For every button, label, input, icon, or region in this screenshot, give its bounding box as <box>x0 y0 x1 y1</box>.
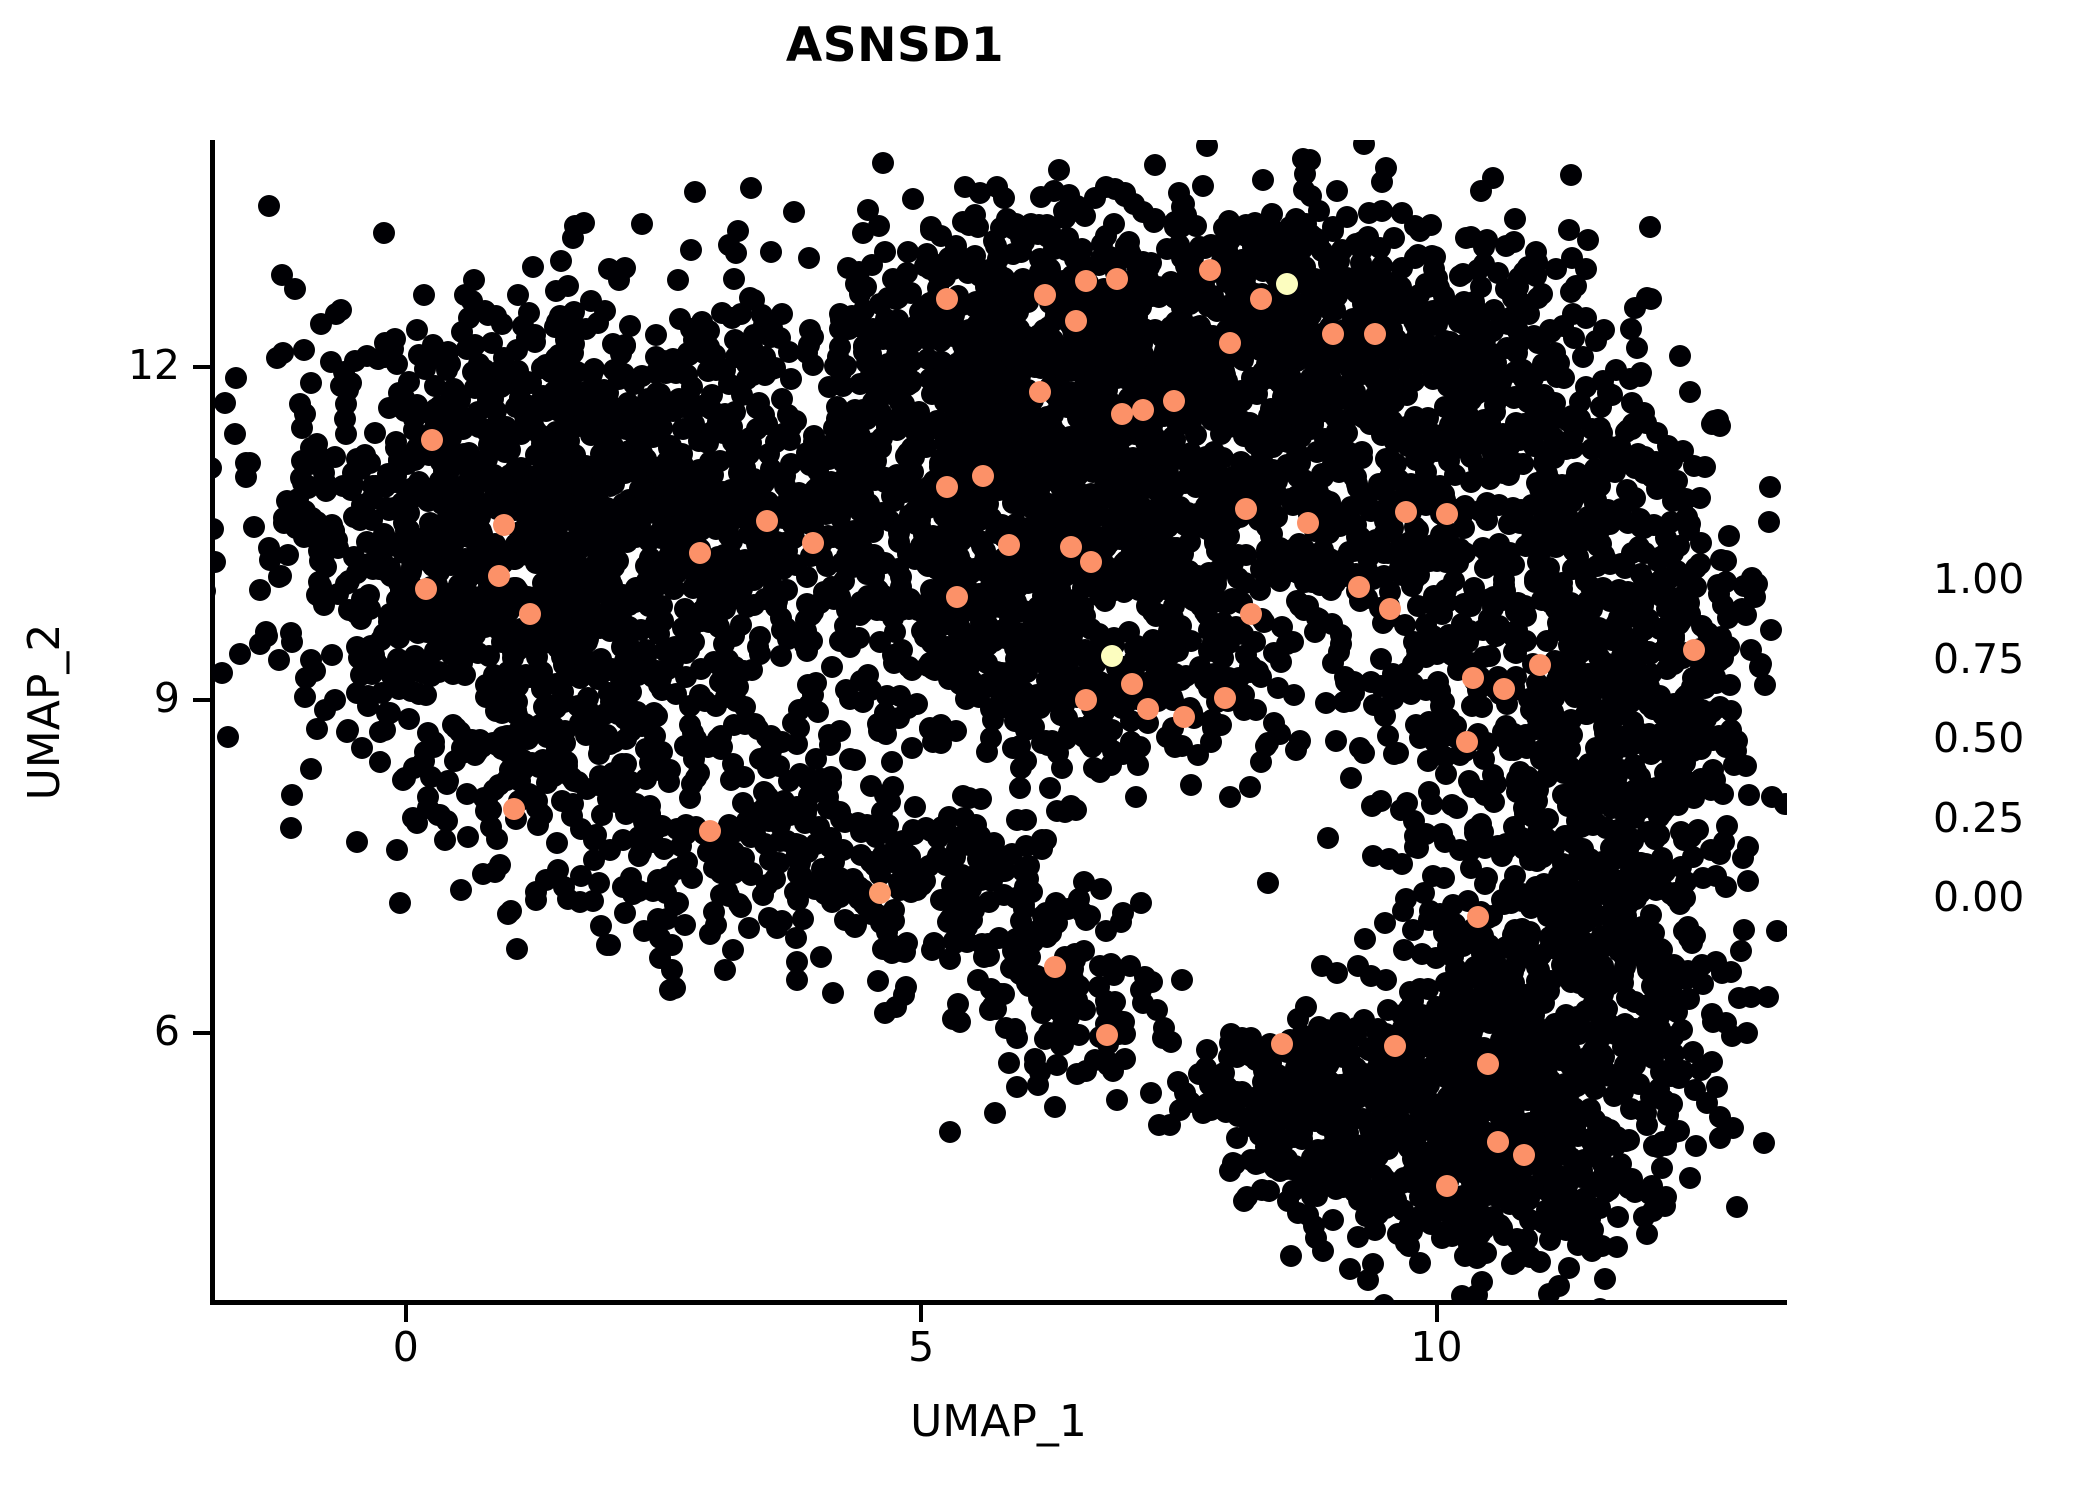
scatter-point <box>1198 619 1220 641</box>
scatter-point <box>365 475 387 497</box>
scatter-point <box>958 670 980 692</box>
scatter-point <box>860 343 882 365</box>
scatter-point <box>619 315 641 337</box>
scatter-point <box>1055 728 1077 750</box>
scatter-point <box>547 859 569 881</box>
scatter-point <box>977 634 999 656</box>
scatter-point <box>667 269 689 291</box>
scatter-point <box>1421 245 1443 267</box>
scatter-point <box>1201 591 1223 613</box>
scatter-point <box>1434 396 1456 418</box>
scatter-point <box>554 732 576 754</box>
scatter-point <box>973 946 995 968</box>
scatter-point <box>521 752 543 774</box>
scatter-point <box>913 298 935 320</box>
scatter-point <box>1391 202 1413 224</box>
scatter-point <box>614 902 636 924</box>
scatter-point <box>924 851 946 873</box>
scatter-point <box>268 649 290 671</box>
scatter-point <box>599 569 621 591</box>
scatter-point <box>831 525 853 547</box>
scatter-point <box>743 324 765 346</box>
scatter-point <box>1452 263 1474 285</box>
scatter-point <box>759 849 781 871</box>
scatter-point <box>1146 999 1168 1021</box>
scatter-point <box>210 457 222 479</box>
scatter-point <box>522 256 544 278</box>
scatter-point <box>481 381 503 403</box>
scatter-point <box>389 892 411 914</box>
scatter-point <box>314 471 336 493</box>
scatter-point <box>1009 365 1031 387</box>
scatter-point <box>417 797 439 819</box>
scatter-point <box>557 888 579 910</box>
scatter-point <box>1353 140 1375 155</box>
scatter-point <box>545 452 567 474</box>
scatter-point <box>1075 909 1097 931</box>
scatter-point <box>1531 283 1553 305</box>
scatter-point <box>938 523 960 545</box>
scatter-point <box>598 682 620 704</box>
scatter-point <box>919 544 941 566</box>
scatter-point <box>974 388 996 410</box>
scatter-point <box>1239 776 1261 798</box>
scatter-point <box>786 969 808 991</box>
scatter-point <box>284 500 306 522</box>
scatter-point <box>415 684 437 706</box>
scatter-point <box>815 874 837 896</box>
scatter-point <box>1455 227 1477 249</box>
scatter-point <box>293 339 315 361</box>
scatter-point <box>489 854 511 876</box>
scatter-point <box>1084 506 1106 528</box>
scatter-point <box>897 241 919 263</box>
scatter-point <box>656 451 678 473</box>
scatter-point <box>727 478 749 500</box>
scatter-point <box>1024 644 1046 666</box>
scatter-point <box>1027 596 1049 618</box>
scatter-point <box>536 772 558 794</box>
scatter-point <box>723 268 745 290</box>
scatter-point <box>969 182 991 204</box>
scatter-point <box>1472 320 1494 342</box>
scatter-point <box>939 1121 961 1143</box>
scatter-point <box>771 619 793 641</box>
scatter-point <box>434 829 456 851</box>
scatter-point <box>872 152 894 174</box>
scatter-point <box>568 415 590 437</box>
scatter-point <box>506 938 528 960</box>
scatter-point <box>720 769 742 791</box>
scatter-point <box>901 737 923 759</box>
scatter-point <box>619 710 641 732</box>
scatter-point <box>1379 448 1401 470</box>
scatter-point <box>1175 204 1197 226</box>
scatter-point <box>996 208 1018 230</box>
scatter-point <box>655 882 677 904</box>
scatter-point <box>1310 384 1332 406</box>
scatter-point <box>392 615 414 637</box>
scatter-point <box>396 453 418 475</box>
scatter-point <box>1441 440 1463 462</box>
scatter-point <box>1004 673 1026 695</box>
scatter-point <box>1087 450 1109 472</box>
scatter-point <box>718 234 740 256</box>
scatter-point <box>978 891 1000 913</box>
scatter-point <box>1326 180 1348 202</box>
scatter-point <box>760 241 782 263</box>
scatter-point <box>681 867 703 889</box>
scatter-point <box>949 1011 971 1033</box>
scatter-point <box>582 890 604 912</box>
scatter-point <box>771 910 793 932</box>
scatter-point <box>1449 349 1471 371</box>
scatter-point <box>518 503 540 525</box>
scatter-point <box>1121 555 1143 577</box>
scatter-point <box>569 667 591 689</box>
scatter-point <box>339 473 361 495</box>
scatter-point <box>1679 381 1701 403</box>
scatter-point <box>1325 730 1347 752</box>
scatter-point <box>790 864 812 886</box>
scatter-point <box>1095 920 1117 942</box>
scatter-point <box>545 280 567 302</box>
scatter-point <box>1006 809 1028 831</box>
scatter-point <box>1425 478 1447 500</box>
scatter-point <box>877 287 899 309</box>
scatter-point <box>1196 140 1218 157</box>
scatter-point <box>1103 213 1125 235</box>
scatter-point <box>1192 175 1214 197</box>
scatter-point <box>676 364 698 386</box>
scatter-point <box>1420 214 1442 236</box>
scatter-point <box>385 670 407 692</box>
scatter-point <box>1060 490 1082 512</box>
scatter-point <box>610 607 632 629</box>
scatter-point <box>442 484 464 506</box>
scatter-point <box>822 982 844 1004</box>
scatter-point <box>1100 953 1122 975</box>
scatter-point <box>583 358 605 380</box>
scatter-point <box>306 718 328 740</box>
scatter-point <box>210 580 216 602</box>
scatter-point <box>796 342 818 364</box>
scatter-point <box>714 959 736 981</box>
scatter-point <box>300 372 322 394</box>
scatter-point <box>675 666 697 688</box>
scatter-point <box>499 759 521 781</box>
scatter-point <box>895 976 917 998</box>
scatter-point <box>1031 732 1053 754</box>
scatter-point <box>749 626 771 648</box>
scatter-point <box>1021 881 1043 903</box>
scatter-point <box>688 762 710 784</box>
scatter-point <box>1219 786 1241 808</box>
scatter-point <box>210 551 226 573</box>
scatter-point <box>860 903 882 925</box>
plot-axes <box>210 140 1787 1305</box>
scatter-point <box>1224 382 1246 404</box>
scatter-point <box>1129 346 1151 368</box>
scatter-point <box>703 857 725 879</box>
scatter-point <box>728 893 750 915</box>
scatter-point <box>894 481 916 503</box>
scatter-point <box>628 845 650 867</box>
scatter-point <box>1124 637 1146 659</box>
scatter-point <box>1503 231 1525 253</box>
scatter-point <box>315 556 337 578</box>
scatter-point <box>1074 386 1096 408</box>
scatter-point <box>258 195 280 217</box>
scatter-point <box>805 478 827 500</box>
scatter-point <box>698 605 720 627</box>
scatter-point <box>1279 216 1301 238</box>
scatter-point <box>798 247 820 269</box>
scatter-point <box>1162 321 1184 343</box>
scatter-point <box>1577 229 1599 251</box>
scatter-point <box>991 426 1013 448</box>
scatter-point <box>929 367 951 389</box>
scatter-point <box>1283 684 1305 706</box>
scatter-point <box>1140 1082 1162 1104</box>
scatter-point <box>518 302 540 324</box>
scatter-point <box>1037 572 1059 594</box>
scatter-point <box>851 520 873 542</box>
scatter-point <box>914 486 936 508</box>
scatter-point <box>821 656 843 678</box>
scatter-point <box>1090 878 1112 900</box>
scatter-point <box>1196 450 1218 472</box>
scatter-point <box>684 181 706 203</box>
scatter-point <box>589 765 611 787</box>
scatter-point <box>406 319 428 341</box>
scatter-point <box>903 823 925 845</box>
scatter-point <box>525 881 547 903</box>
scatter-point <box>551 432 573 454</box>
scatter-point <box>271 264 293 286</box>
scatter-point <box>1038 1022 1060 1044</box>
scatter-point <box>454 664 476 686</box>
scatter-point <box>653 838 675 860</box>
scatter-point <box>1156 445 1178 467</box>
scatter-point <box>506 691 528 713</box>
scatter-point <box>550 250 572 272</box>
scatter-point <box>1054 801 1076 823</box>
scatter-point <box>1036 332 1058 354</box>
scatter-point <box>899 588 921 610</box>
scatter-point <box>533 632 555 654</box>
scatter-point <box>1039 777 1061 799</box>
scatter-point <box>1045 906 1067 928</box>
scatter-point <box>1233 699 1255 721</box>
scatter-point <box>436 773 458 795</box>
scatter-point <box>1042 431 1064 453</box>
scatter-point <box>880 933 902 955</box>
scatter-point <box>881 751 903 773</box>
scatter-point <box>681 467 703 489</box>
scatter-point <box>724 656 746 678</box>
scatter-point <box>635 412 657 434</box>
scatter-point <box>754 364 776 386</box>
scatter-point <box>635 768 657 790</box>
scatter-point <box>770 645 792 667</box>
scatter-point <box>210 518 224 540</box>
scatter-point <box>1336 422 1358 444</box>
scatter-point <box>1136 595 1158 617</box>
scatter-point <box>931 453 953 475</box>
scatter-point <box>879 362 901 384</box>
scatter-point <box>984 1102 1006 1124</box>
scatter-point <box>1227 544 1249 566</box>
scatter-point <box>965 830 987 852</box>
scatter-point <box>1507 334 1529 356</box>
scatter-point <box>483 464 505 486</box>
scatter-point <box>1202 717 1224 739</box>
scatter-point <box>902 188 924 210</box>
scatter-point <box>829 318 851 340</box>
scatter-point <box>441 644 463 666</box>
scatter-point <box>765 596 787 618</box>
scatter-point <box>768 558 790 580</box>
scatter-point <box>413 284 435 306</box>
scatter-point <box>658 771 680 793</box>
scatter-point <box>980 727 1002 749</box>
scatter-point <box>620 681 642 703</box>
scatter-point <box>450 879 472 901</box>
scatter-point <box>1517 256 1539 278</box>
scatter-point <box>775 493 797 515</box>
scatter-point <box>1194 237 1216 259</box>
scatter-point <box>839 636 861 658</box>
scatter-point <box>340 372 362 394</box>
scatter-point <box>1208 559 1230 581</box>
scatter-point <box>1239 656 1261 678</box>
scatter-point <box>1053 200 1075 222</box>
scatter-point <box>475 686 497 708</box>
scatter-point <box>1414 446 1436 468</box>
scatter-point <box>509 387 531 409</box>
scatter-point <box>1382 377 1404 399</box>
scatter-point <box>1124 463 1146 485</box>
scatter-point <box>356 345 378 367</box>
scatter-point <box>675 823 697 845</box>
scatter-point <box>1482 167 1504 189</box>
scatter-point <box>386 839 408 861</box>
scatter-point <box>630 619 652 641</box>
scatter-point <box>686 499 708 521</box>
scatter-point <box>1120 575 1142 597</box>
scatter-point <box>849 604 871 626</box>
scatter-point <box>991 853 1013 875</box>
scatter-point <box>442 714 464 736</box>
scatter-point <box>1068 975 1090 997</box>
scatter-point <box>1009 777 1031 799</box>
scatter-point <box>452 623 474 645</box>
scatter-point <box>933 638 955 660</box>
scatter-point <box>583 849 605 871</box>
scatter-point <box>321 644 343 666</box>
scatter-point <box>599 733 621 755</box>
scatter-point <box>464 334 486 356</box>
scatter-point <box>835 355 857 377</box>
scatter-point <box>1046 1054 1068 1076</box>
scatter-point <box>463 269 485 291</box>
scatter-point <box>225 367 247 389</box>
scatter-point <box>369 751 391 773</box>
scatter-point <box>1345 514 1367 536</box>
page-title: ASNSD1 <box>0 22 1790 69</box>
scatter-point <box>1035 829 1057 851</box>
scatter-point <box>679 787 701 809</box>
scatter-point <box>1102 740 1124 762</box>
scatter-point <box>904 796 926 818</box>
scatter-point <box>1048 159 1070 181</box>
scatter-point <box>457 826 479 848</box>
scatter-point <box>335 423 357 445</box>
scatter-point <box>936 821 958 843</box>
scatter-point <box>995 1017 1017 1039</box>
scatter-point <box>646 382 668 404</box>
scatter-point <box>901 370 923 392</box>
scatter-point <box>249 579 271 601</box>
scatter-point <box>956 916 978 938</box>
scatter-point <box>575 476 597 498</box>
scatter-point <box>1006 1076 1028 1098</box>
scatter-point <box>211 662 233 684</box>
scatter-point <box>1134 966 1156 988</box>
scatter-point <box>695 431 717 453</box>
scatter-point <box>768 465 790 487</box>
scatter-point <box>1630 362 1652 384</box>
scatter-point <box>724 401 746 423</box>
scatter-point <box>1171 969 1193 991</box>
scatter-point <box>361 663 383 685</box>
scatter-point <box>538 510 560 532</box>
scatter-point <box>210 358 214 380</box>
scatter-point <box>960 562 982 584</box>
scatter-point <box>449 389 471 411</box>
scatter-point <box>643 502 665 524</box>
scatter-point <box>243 516 265 538</box>
scatter-point <box>343 546 365 568</box>
scatter-point <box>951 256 973 278</box>
scatter-point <box>1144 154 1166 176</box>
scatter-point <box>214 392 236 414</box>
scatter-point <box>224 423 246 445</box>
scatter-point <box>300 758 322 780</box>
scatter-point <box>906 879 928 901</box>
scatter-point <box>540 361 562 383</box>
scatter-point <box>598 258 620 280</box>
scatter-points-layer <box>210 140 1787 1305</box>
scatter-point <box>612 517 634 539</box>
scatter-point <box>477 304 499 326</box>
scatter-point <box>1299 149 1321 171</box>
scatter-point <box>364 422 386 444</box>
scatter-point <box>1256 544 1278 566</box>
scatter-point <box>740 826 762 848</box>
scatter-point <box>1639 216 1661 238</box>
scatter-point <box>1079 733 1101 755</box>
scatter-point <box>645 324 667 346</box>
scatter-point <box>1375 157 1397 179</box>
scatter-point <box>1068 1024 1090 1046</box>
scatter-point <box>1252 169 1274 191</box>
scatter-point <box>901 350 923 372</box>
scatter-point <box>468 416 490 438</box>
scatter-point <box>743 594 765 616</box>
scatter-point <box>1294 343 1316 365</box>
